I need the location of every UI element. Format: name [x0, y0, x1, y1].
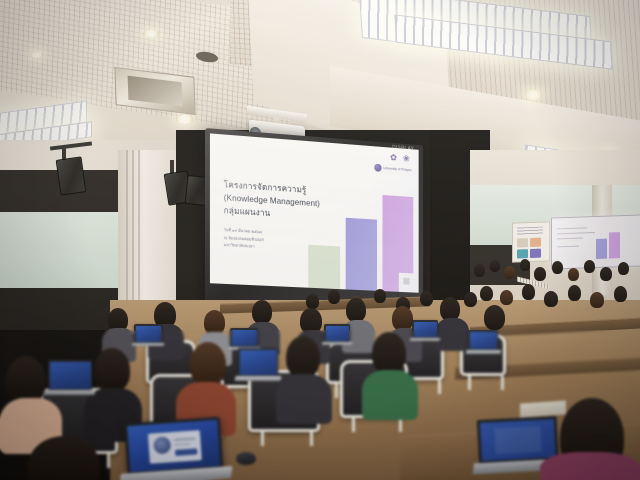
attendee-laptop[interactable] — [48, 360, 92, 390]
foreground-laptop[interactable] — [124, 417, 224, 480]
chart-bar — [346, 218, 377, 291]
attendee-head — [252, 300, 272, 324]
laptop-lid — [124, 417, 223, 476]
attendee-head — [346, 298, 366, 322]
attendee-head — [286, 336, 320, 378]
slide-logo-text: University of Phayao — [383, 166, 411, 172]
slide-logo-lockup: University of Phayao — [374, 164, 411, 174]
university-logo-icon — [374, 164, 381, 172]
slide-logo-group: ✿ ❀ University of Phayao — [374, 152, 411, 174]
seminar-room-photo: DISPLAY ✿ ❀ University of Phayao โครงการ… — [0, 0, 640, 480]
chart-bar — [308, 245, 340, 289]
laptop-login-screen[interactable] — [127, 420, 220, 472]
attendee-head — [190, 342, 226, 386]
attendee-laptop[interactable] — [468, 330, 498, 350]
speaker-left — [56, 156, 87, 195]
login-button[interactable] — [175, 448, 197, 456]
presentation-slide: ✿ ❀ University of Phayao โครงการจัดการคว… — [210, 133, 419, 292]
glass-wall-panel — [0, 212, 120, 290]
downlight-icon — [30, 52, 43, 58]
attendee-laptop[interactable] — [238, 348, 278, 376]
slide-bar-chart — [303, 184, 419, 293]
laptop-lid — [477, 416, 559, 464]
poster-title-block — [517, 227, 543, 236]
display-panel: ✿ ❀ University of Phayao โครงการจัดการคว… — [210, 133, 419, 292]
downlight-icon — [176, 115, 193, 124]
downlight-icon — [525, 90, 542, 100]
attendee-head — [6, 356, 46, 404]
slide-logo-marks: ✿ ❀ — [374, 152, 411, 163]
poster-swatch — [517, 238, 528, 247]
avatar — [153, 436, 171, 454]
attendee-body — [540, 452, 640, 480]
computer-mouse[interactable] — [236, 452, 256, 465]
downlight-icon — [143, 30, 159, 37]
login-card — [148, 430, 202, 464]
laptop-screen — [480, 419, 556, 461]
attendee-head — [94, 348, 130, 392]
attendee-head — [372, 332, 406, 374]
poster-swatch — [530, 238, 541, 247]
attendee-head — [484, 305, 505, 330]
